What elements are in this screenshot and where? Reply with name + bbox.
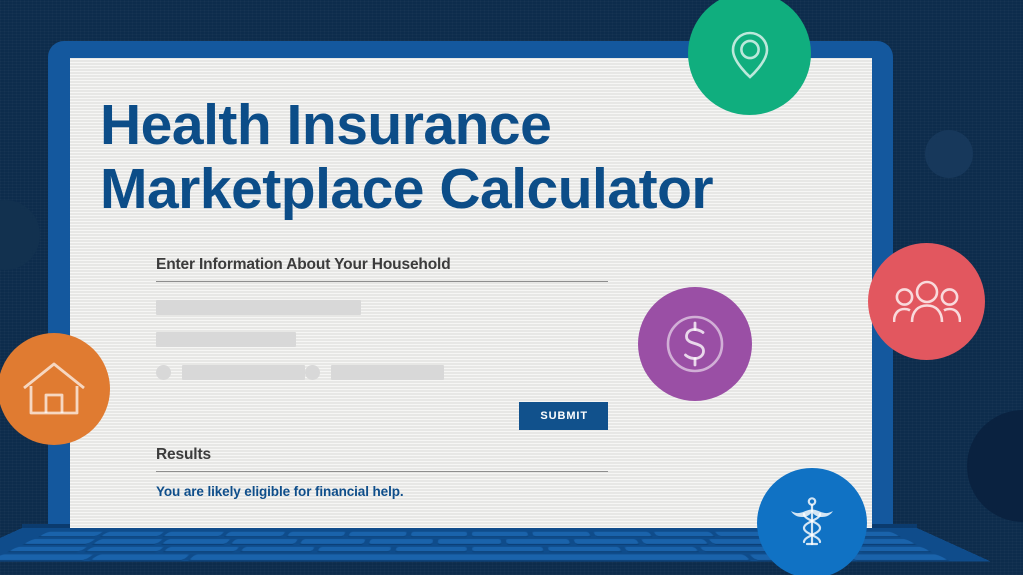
keyboard-key [438, 539, 502, 544]
keyboard-key [593, 532, 652, 536]
keyboard-key [225, 532, 286, 536]
keyboard-key [162, 539, 231, 544]
keyboard-key [846, 555, 948, 560]
keyboard-key [573, 539, 639, 544]
keyboard-key [506, 539, 570, 544]
form-field-row-2[interactable] [156, 332, 296, 347]
keyboard-key [623, 546, 698, 551]
submit-button[interactable]: SUBMIT [519, 402, 608, 430]
keyboard-key [93, 539, 163, 544]
results-heading-rule [156, 471, 608, 472]
people-group-icon [893, 278, 961, 326]
keyboard-key [101, 532, 164, 536]
radio-option-icon[interactable] [305, 365, 320, 380]
keyboard-key [654, 532, 715, 536]
people-badge [868, 243, 985, 360]
form-field-row-3 [156, 365, 608, 380]
household-form: Enter Information About Your Household S… [156, 256, 608, 499]
money-badge [638, 287, 752, 401]
keyboard-key [472, 546, 544, 551]
background-circle-light [925, 130, 973, 178]
result-message: You are likely eligible for financial he… [156, 484, 608, 499]
keyboard-key [287, 532, 346, 536]
results-section: Results You are likely eligible for fina… [156, 446, 608, 499]
laptop-screen: Health Insurance Marketplace Calculator … [70, 58, 872, 528]
keyboard-key [163, 532, 225, 536]
keyboard-key [0, 555, 93, 560]
keyboard-key [348, 532, 406, 536]
keyboard-key [90, 555, 190, 560]
radio-option-icon[interactable] [156, 365, 171, 380]
home-badge [0, 333, 110, 445]
keyboard-key [472, 532, 529, 536]
form-field-row-1[interactable] [156, 300, 361, 315]
keyboard-key [410, 532, 467, 536]
keyboard-key [548, 546, 622, 551]
form-heading-rule [156, 281, 608, 282]
form-fields-placeholder [156, 300, 608, 380]
radio-option-label-2[interactable] [331, 365, 444, 380]
screen-content: Health Insurance Marketplace Calculator … [70, 58, 872, 528]
poster-canvas: Health Insurance Marketplace Calculator … [0, 0, 1023, 575]
keyboard-key [641, 539, 708, 544]
keyboard-key [533, 532, 591, 536]
keyboard-key [240, 546, 315, 551]
medical-badge [757, 468, 867, 575]
keyboard-key [850, 546, 930, 551]
keyboard-key [8, 546, 88, 551]
keyboard-key [231, 539, 298, 544]
dollar-coin-icon [662, 311, 728, 377]
keyboard-key [395, 546, 467, 551]
submit-row: SUBMIT [156, 402, 608, 430]
keyboard-key [24, 539, 96, 544]
keyboard-key [300, 539, 366, 544]
keyboard-key [369, 539, 433, 544]
form-heading: Enter Information About Your Household [156, 256, 608, 281]
radio-option-label-1[interactable] [182, 365, 305, 380]
keyboard-key [318, 546, 392, 551]
keyboard-key-spacebar [189, 555, 750, 560]
keyboard-key [85, 546, 164, 551]
house-icon [21, 360, 87, 418]
results-heading: Results [156, 446, 608, 471]
location-pin-icon [719, 23, 781, 85]
keyboard-key [39, 532, 103, 536]
caduceus-icon [781, 492, 843, 554]
keyboard-key [163, 546, 240, 551]
